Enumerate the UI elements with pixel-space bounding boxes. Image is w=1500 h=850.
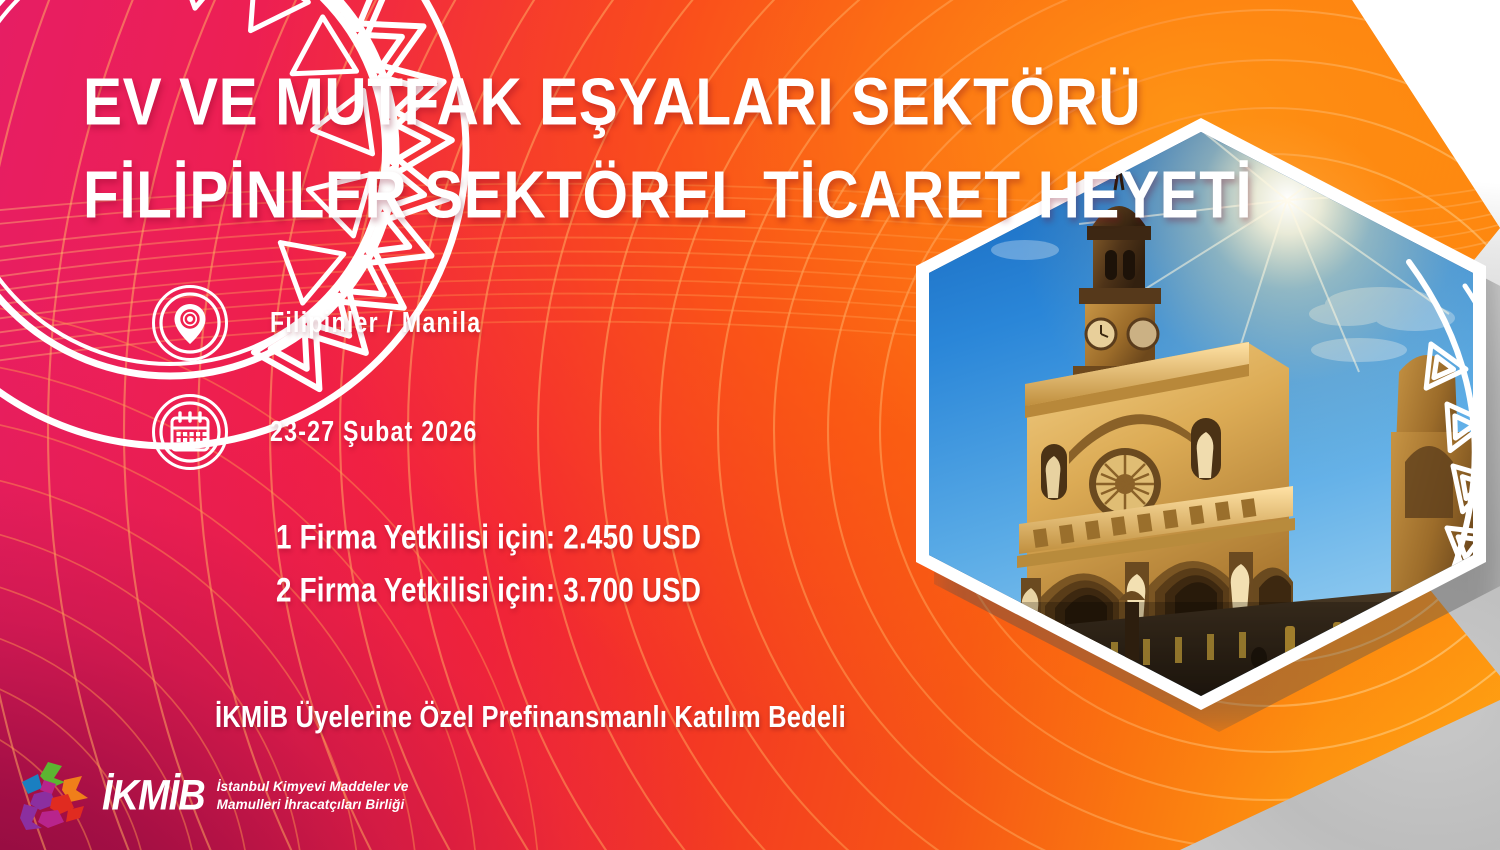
ikmib-logo: İKMİB İstanbul Kimyevi Maddeler ve Mamul… bbox=[18, 760, 409, 832]
price-line-1: 1 Firma Yetkilisi için: 2.450 USD bbox=[276, 518, 701, 558]
location-row: Filipinler / Manila bbox=[152, 285, 471, 361]
price-line-2: 2 Firma Yetkilisi için: 3.700 USD bbox=[276, 571, 701, 611]
poster-title: EV VE MUTFAK EŞYALARI SEKTÖRÜ FİLİPİNLER… bbox=[83, 68, 1043, 211]
date-row: 23-27 Şubat 2026 bbox=[152, 394, 468, 470]
map-pin-icon bbox=[152, 285, 228, 361]
calendar-icon bbox=[152, 394, 228, 470]
pricing-block: 1 Firma Yetkilisi için: 2.450 USD 2 Firm… bbox=[276, 518, 689, 602]
ikmib-subtitle-line-2: Mamulleri İhracatçıları Birliği bbox=[217, 796, 409, 814]
promotional-poster: EV VE MUTFAK EŞYALARI SEKTÖRÜ FİLİPİNLER… bbox=[0, 0, 1500, 850]
tagline-text: İKMİB Üyelerine Özel Prefinansmanlı Katı… bbox=[215, 700, 846, 735]
title-line-1: EV VE MUTFAK EŞYALARI SEKTÖRÜ bbox=[83, 68, 1206, 135]
date-text: 23-27 Şubat 2026 bbox=[270, 415, 478, 449]
title-line-2: FİLİPİNLER SEKTÖREL TİCARET HEYETİ bbox=[83, 161, 1206, 228]
ikmib-subtitle-line-1: İstanbul Kimyevi Maddeler ve bbox=[217, 778, 409, 796]
ikmib-molecule-logo-icon bbox=[18, 760, 96, 832]
location-text: Filipinler / Manila bbox=[270, 306, 481, 340]
ikmib-wordmark: İKMİB bbox=[102, 775, 205, 818]
ikmib-subtitle: İstanbul Kimyevi Maddeler ve Mamulleri İ… bbox=[217, 778, 409, 814]
